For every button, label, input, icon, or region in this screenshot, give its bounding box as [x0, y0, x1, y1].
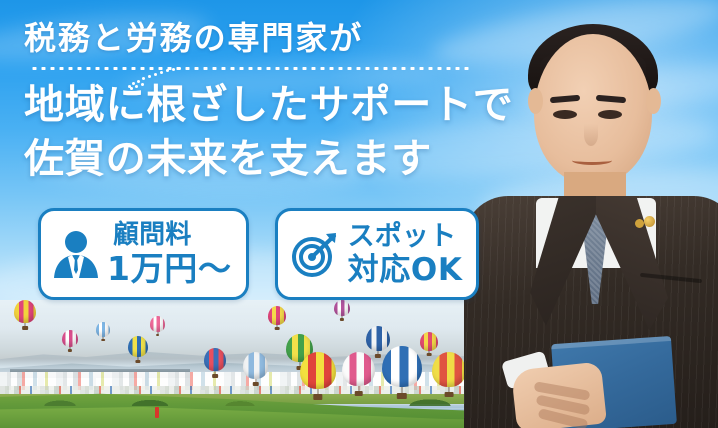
dotted-divider [30, 61, 504, 77]
headline-block: 税務と労務の専門家が 地域に根ざしたサポートで 佐賀の未来を支えます [24, 18, 504, 186]
target-dart-icon [290, 229, 340, 279]
headline-main-line-2: 佐賀の未来を支えます [24, 133, 504, 187]
ear-right [646, 88, 661, 114]
badge-2-line-2: 対応OK [348, 253, 463, 288]
nose [584, 124, 598, 146]
hero-banner: 税務と労務の専門家が 地域に根ざしたサポートで 佐賀の未来を支えます 顧問料 1… [0, 0, 718, 428]
badge-advisory-fee[interactable]: 顧問料 1万円〜 [38, 208, 249, 300]
person-in-suit-icon [53, 228, 99, 280]
lapel-pin [644, 216, 655, 227]
badge-advisory-fee-text: 顧問料 1万円〜 [107, 220, 232, 288]
distant-person [155, 407, 159, 418]
badge-2-line-1: スポット [348, 221, 463, 253]
mouth [572, 156, 612, 165]
ear-left [528, 88, 543, 114]
divider-swoosh-dots [126, 65, 186, 91]
headline-main-line-1: 地域に根ざしたサポートで [24, 79, 504, 133]
businessman-photo [478, 0, 718, 428]
badge-spot-support-text: スポット 対応OK [348, 221, 463, 288]
badge-1-line-2: 1万円〜 [107, 251, 232, 288]
badge-1-line-1: 顧問料 [107, 220, 232, 251]
badge-spot-support[interactable]: スポット 対応OK [275, 208, 480, 300]
headline-lead: 税務と労務の専門家が [24, 18, 504, 59]
eye-right [598, 110, 622, 119]
divider-dots [30, 67, 470, 70]
eye-left [553, 110, 577, 119]
feature-badges: 顧問料 1万円〜 スポット 対応OK [38, 208, 479, 300]
